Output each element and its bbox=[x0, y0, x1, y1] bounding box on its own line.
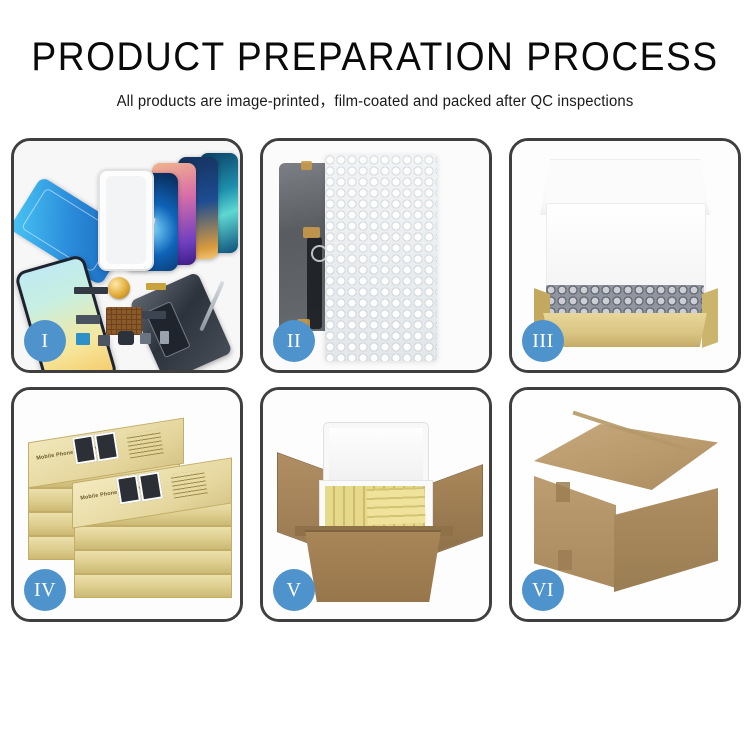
product-preparation-infographic: PRODUCT PREPARATION PROCESS All products… bbox=[0, 0, 750, 750]
step-badge-5: V bbox=[273, 569, 315, 611]
page-subtitle: All products are image-printed，film-coat… bbox=[15, 89, 735, 111]
step-badge-3: III bbox=[522, 320, 564, 362]
step-panel-2[interactable]: II bbox=[260, 138, 492, 373]
step-badge-4: IV bbox=[24, 569, 66, 611]
step-panel-3[interactable]: III bbox=[509, 138, 741, 373]
step-badge-1: I bbox=[24, 320, 66, 362]
page-title: PRODUCT PREPARATION PROCESS bbox=[26, 34, 724, 80]
step-panel-5[interactable]: V bbox=[260, 387, 492, 622]
process-steps-grid: I II bbox=[11, 138, 741, 622]
step-panel-6[interactable]: VI bbox=[509, 387, 741, 622]
step-panel-1[interactable]: I bbox=[11, 138, 243, 373]
header: PRODUCT PREPARATION PROCESS All products… bbox=[0, 34, 750, 111]
step-badge-2: II bbox=[273, 320, 315, 362]
step-badge-6: VI bbox=[522, 569, 564, 611]
step-panel-4[interactable]: Mobile Phone Spare Parts Mobile Phone Sp… bbox=[11, 387, 243, 622]
